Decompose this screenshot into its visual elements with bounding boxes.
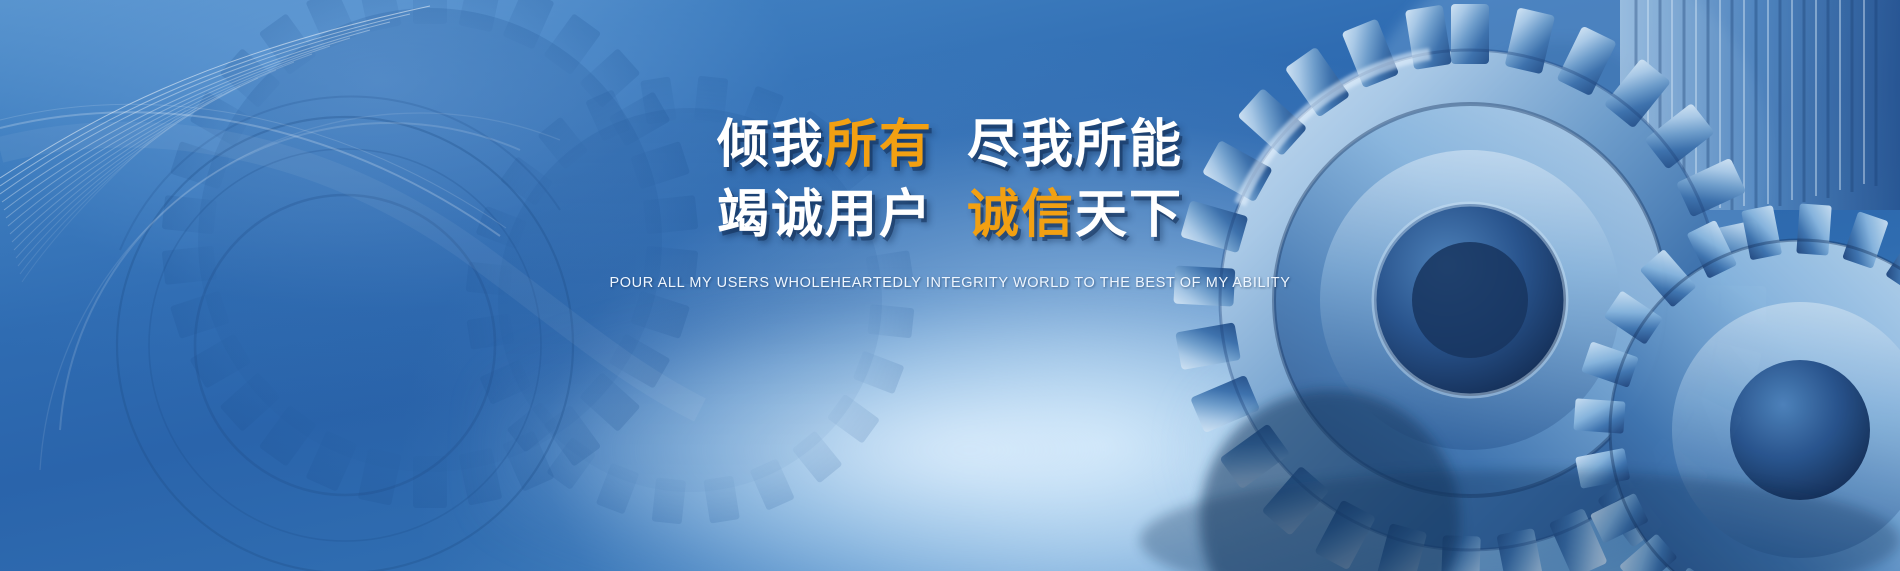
- headline-line-1: 倾我所有尽我所能: [0, 119, 1900, 171]
- hero-banner: 倾我所有尽我所能 竭诚用户诚信天下 POUR ALL MY USERS WHOL…: [0, 0, 1900, 571]
- headline-line1-segment-orange: 所有: [825, 115, 933, 175]
- headline-line2-segment-white-b: 天下: [1075, 185, 1183, 245]
- headline-line2-segment-white-a: 竭诚用户: [717, 185, 933, 245]
- headline-line2-segment-orange: 诚信: [967, 185, 1075, 245]
- headline-line1-segment-white-b: 尽我所能: [967, 115, 1183, 175]
- headline-line1-segment-white-a: 倾我: [717, 115, 825, 175]
- headline-line-2: 竭诚用户诚信天下: [0, 189, 1900, 241]
- banner-subtitle: POUR ALL MY USERS WHOLEHEARTEDLY INTEGRI…: [0, 275, 1900, 291]
